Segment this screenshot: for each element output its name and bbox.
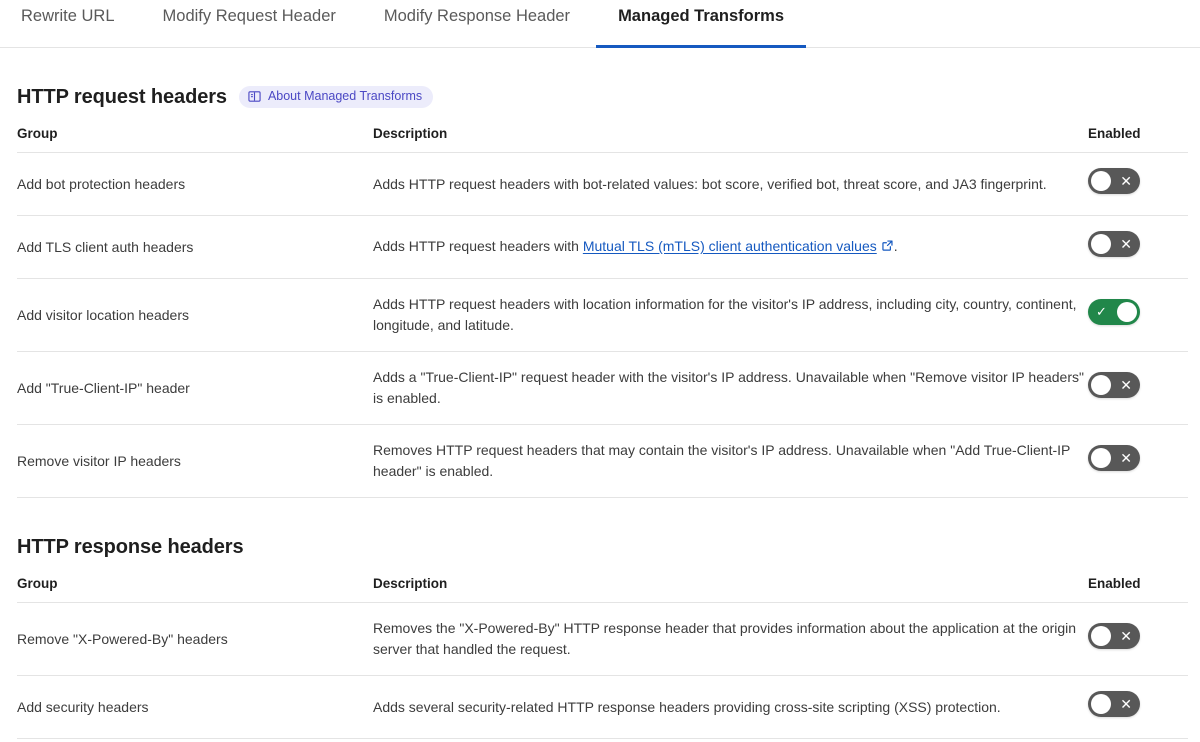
enabled-toggle[interactable]: ✓ [1088,299,1140,325]
description-text-before: Adds HTTP request headers with [373,238,583,254]
row-group-name: Add security headers [17,676,373,739]
section-title: HTTP response headers [17,535,244,559]
row-enabled-cell: ✕ [1088,603,1188,676]
row-enabled-cell: ✕ [1088,153,1188,216]
managed-transforms-table: GroupDescriptionEnabledRemove "X-Powered… [17,576,1188,739]
row-description: Removes the "X-Powered-By" HTTP response… [373,603,1088,676]
column-header-description: Description [373,576,1088,603]
row-group-name: Remove visitor IP headers [17,425,373,498]
toggle-glyph: ✕ [1120,231,1132,257]
column-header-description: Description [373,126,1088,153]
book-icon [248,90,261,103]
toggle-glyph: ✕ [1120,623,1132,649]
toggle-knob [1117,302,1137,322]
row-description: Removes HTTP request headers that may co… [373,425,1088,498]
enabled-toggle[interactable]: ✕ [1088,623,1140,649]
row-group-name: Add bot protection headers [17,153,373,216]
section-spacer [0,498,1200,535]
enabled-toggle[interactable]: ✕ [1088,231,1140,257]
column-header-enabled: Enabled [1088,576,1188,603]
row-description: Adds HTTP request headers with bot-relat… [373,153,1088,216]
row-description: Adds HTTP request headers with Mutual TL… [373,216,1088,279]
row-group-name: Remove "X-Powered-By" headers [17,603,373,676]
badge-label: About Managed Transforms [268,89,422,104]
row-group-name: Add TLS client auth headers [17,216,373,279]
section-http-response-headers: HTTP response headersGroupDescriptionEna… [0,535,1200,739]
section-header: HTTP request headersAbout Managed Transf… [17,85,1183,109]
mtls-documentation-link[interactable]: Mutual TLS (mTLS) client authentication … [583,238,877,254]
enabled-toggle[interactable]: ✕ [1088,372,1140,398]
row-group-name: Add visitor location headers [17,279,373,352]
toggle-knob [1091,626,1111,646]
tab-bar: Rewrite URLModify Request HeaderModify R… [0,0,1200,48]
column-header-group: Group [17,126,373,153]
tab-rewrite-url[interactable]: Rewrite URL [21,0,115,48]
external-link-icon [881,237,894,258]
toggle-glyph: ✕ [1120,445,1132,471]
tabbar-spacer [0,48,1200,85]
row-description: Adds HTTP request headers with location … [373,279,1088,352]
row-enabled-cell: ✕ [1088,216,1188,279]
table-row: Add bot protection headersAdds HTTP requ… [17,153,1188,216]
tab-list: Rewrite URLModify Request HeaderModify R… [0,0,1200,48]
enabled-toggle[interactable]: ✕ [1088,168,1140,194]
managed-transforms-table: GroupDescriptionEnabledAdd bot protectio… [17,126,1188,498]
table-header-row: GroupDescriptionEnabled [17,126,1188,153]
enabled-toggle[interactable]: ✕ [1088,445,1140,471]
table-row: Add TLS client auth headersAdds HTTP req… [17,216,1188,279]
section-title: HTTP request headers [17,85,227,109]
table-row: Add visitor location headersAdds HTTP re… [17,279,1188,352]
sections-container: HTTP request headersAbout Managed Transf… [0,85,1200,739]
tab-modify-request-header[interactable]: Modify Request Header [163,0,336,48]
toggle-knob [1091,171,1111,191]
table-row: Remove visitor IP headersRemoves HTTP re… [17,425,1188,498]
column-header-enabled: Enabled [1088,126,1188,153]
table-row: Remove "X-Powered-By" headersRemoves the… [17,603,1188,676]
tab-modify-response-header[interactable]: Modify Response Header [384,0,570,48]
table-header-row: GroupDescriptionEnabled [17,576,1188,603]
toggle-glyph: ✕ [1120,691,1132,717]
toggle-glyph: ✕ [1120,372,1132,398]
table-row: Add "True-Client-IP" headerAdds a "True-… [17,352,1188,425]
toggle-knob [1091,375,1111,395]
table-row: Add security headersAdds several securit… [17,676,1188,739]
row-enabled-cell: ✕ [1088,352,1188,425]
toggle-glyph: ✓ [1096,299,1107,325]
enabled-toggle[interactable]: ✕ [1088,691,1140,717]
toggle-knob [1091,694,1111,714]
toggle-glyph: ✕ [1120,168,1132,194]
row-description: Adds several security-related HTTP respo… [373,676,1088,739]
toggle-knob [1091,234,1111,254]
row-group-name: Add "True-Client-IP" header [17,352,373,425]
tab-managed-transforms[interactable]: Managed Transforms [618,0,784,48]
row-enabled-cell: ✕ [1088,676,1188,739]
section-header: HTTP response headers [17,535,1183,559]
toggle-knob [1091,448,1111,468]
row-enabled-cell: ✕ [1088,425,1188,498]
column-header-group: Group [17,576,373,603]
description-text-after: . [894,238,898,254]
row-enabled-cell: ✓ [1088,279,1188,352]
section-http-request-headers: HTTP request headersAbout Managed Transf… [0,85,1200,498]
row-description: Adds a "True-Client-IP" request header w… [373,352,1088,425]
about-managed-transforms-badge[interactable]: About Managed Transforms [239,86,433,108]
